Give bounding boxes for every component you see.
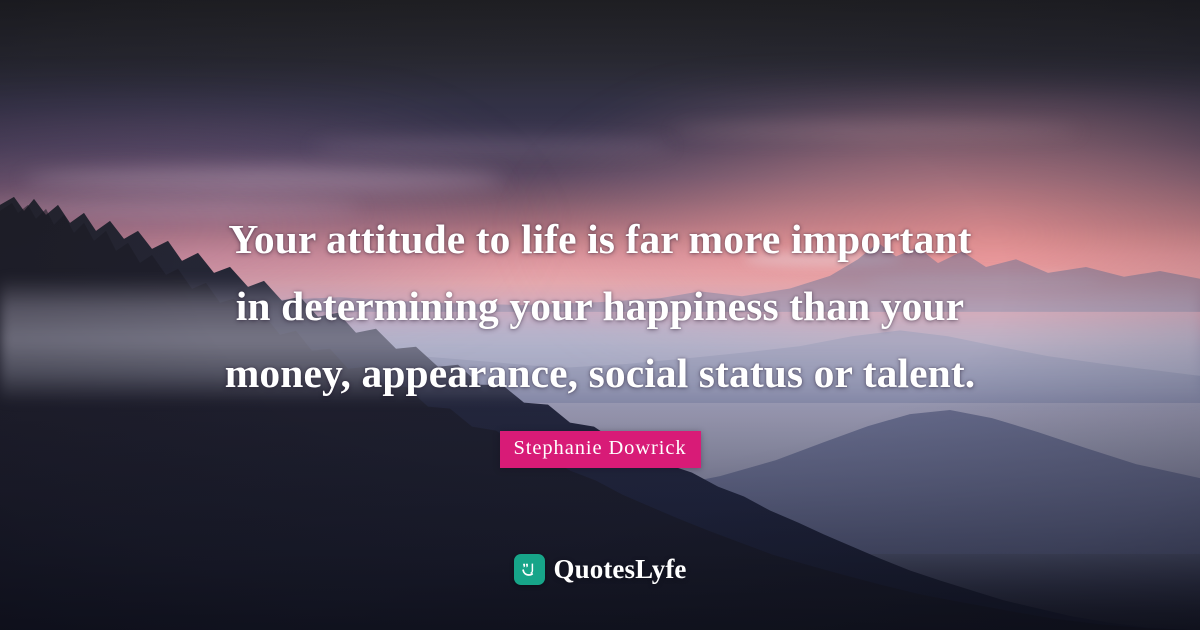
- quote-line: Your attitude to life is far more import…: [130, 206, 1070, 273]
- author-badge[interactable]: Stephanie Dowrick: [500, 431, 701, 468]
- quote-line: in determining your happiness than your: [130, 273, 1070, 340]
- content-stack: Your attitude to life is far more import…: [0, 0, 1200, 630]
- quote-card: Your attitude to life is far more import…: [0, 0, 1200, 630]
- quote-text: Your attitude to life is far more import…: [130, 206, 1070, 407]
- quote-line: money, appearance, social status or tale…: [130, 340, 1070, 407]
